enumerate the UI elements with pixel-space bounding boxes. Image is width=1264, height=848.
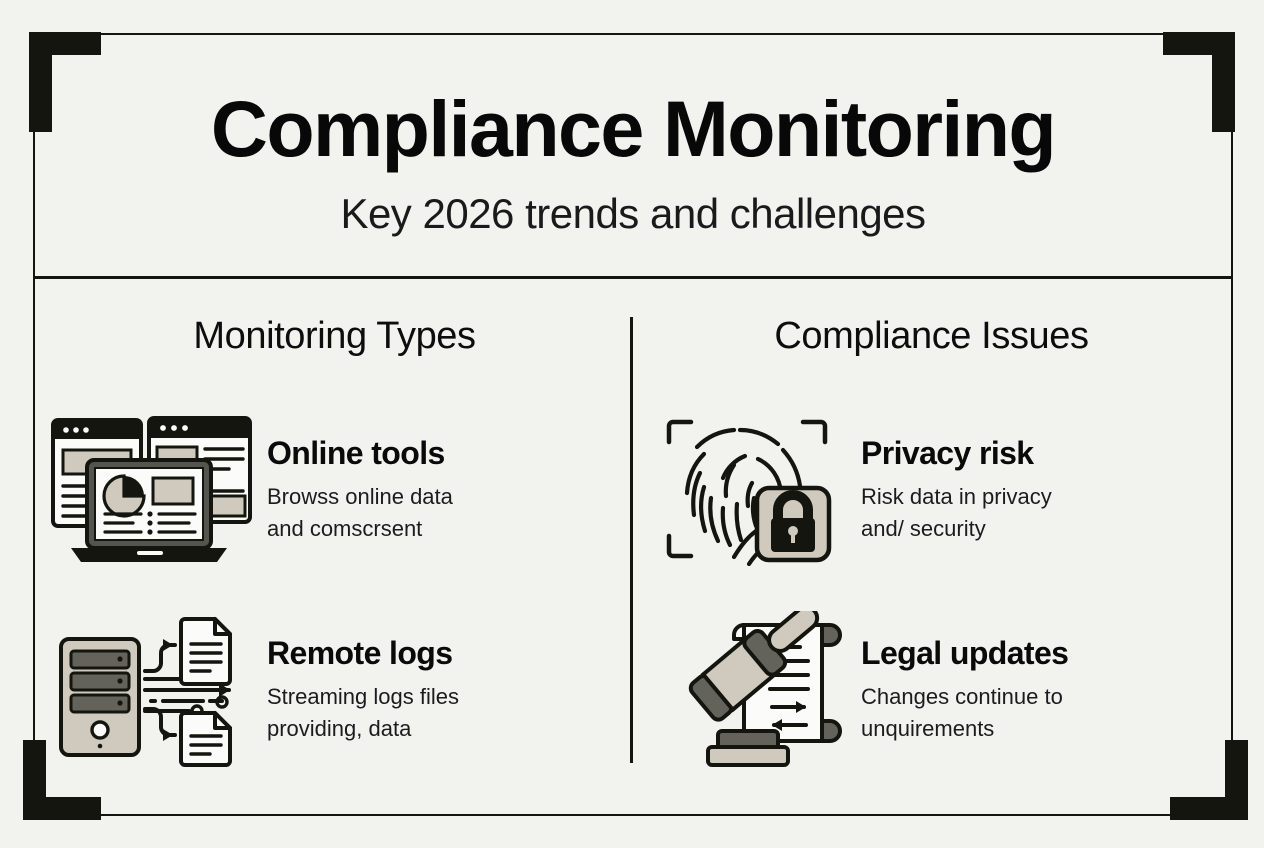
list-item-heading: Privacy risk [861,436,1052,471]
column-compliance-issues: Compliance Issues [633,280,1230,814]
list-item-description: Streaming logs files providing, data [267,681,459,743]
list-item[interactable]: Online tools Browss online data and coms… [36,390,633,590]
list-item-text: Privacy risk Risk data in privacy and/ s… [853,436,1052,544]
list-item-heading: Online tools [267,436,453,471]
fingerprint-lock-icon [641,408,853,573]
list-item-description: Browss online data and comscrsent [267,481,453,543]
browser-windows-laptop-icon [44,408,259,573]
column-title-compliance-issues: Compliance Issues [633,315,1230,358]
item-list-monitoring-types: Online tools Browss online data and coms… [36,390,633,790]
list-item-text: Legal updates Changes continue to unquir… [853,636,1068,744]
poster-header: Compliance Monitoring Key 2026 trends an… [36,36,1230,276]
server-log-files-icon [44,608,259,773]
page-title: Compliance Monitoring [211,89,1055,168]
list-item-heading: Remote logs [267,636,459,671]
list-item[interactable]: Remote logs Streaming logs files providi… [36,590,633,790]
header-divider-rule [33,276,1233,279]
list-item-text: Online tools Browss online data and coms… [259,436,453,544]
column-title-monitoring-types: Monitoring Types [36,315,633,358]
column-monitoring-types: Monitoring Types [36,280,633,814]
list-item-text: Remote logs Streaming logs files providi… [259,636,459,744]
gavel-scroll-icon [641,608,853,773]
list-item[interactable]: Legal updates Changes continue to unquir… [633,590,1230,790]
page-subtitle: Key 2026 trends and challenges [340,190,925,238]
list-item-heading: Legal updates [861,636,1068,671]
list-item-description: Risk data in privacy and/ security [861,481,1052,543]
item-list-compliance-issues: Privacy risk Risk data in privacy and/ s… [633,390,1230,790]
list-item-description: Changes continue to unquirements [861,681,1068,743]
list-item[interactable]: Privacy risk Risk data in privacy and/ s… [633,390,1230,590]
content-columns: Monitoring Types [36,280,1230,814]
poster-canvas: Compliance Monitoring Key 2026 trends an… [0,0,1264,848]
